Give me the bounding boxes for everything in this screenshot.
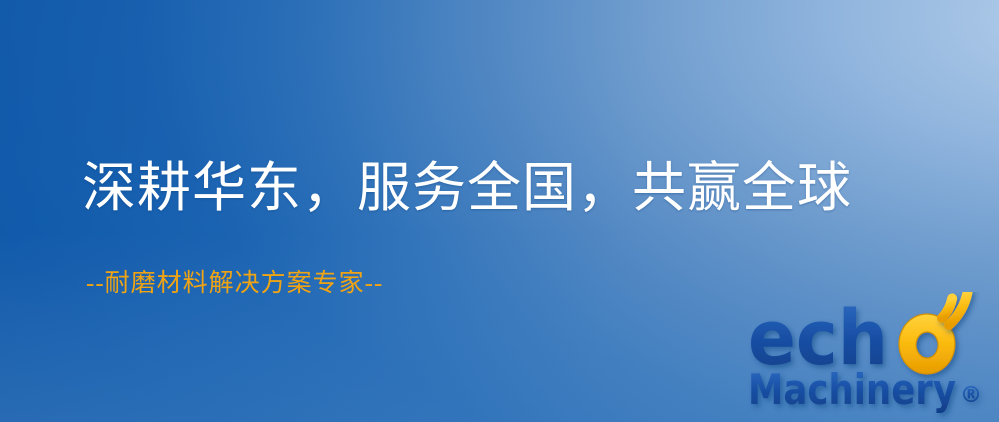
logo-echo-waves-icon <box>938 292 971 325</box>
banner-subtitle: --耐磨材料解决方案专家-- <box>86 268 383 300</box>
banner-headline: 深耕华东，服务全国，共赢全球 <box>82 155 852 221</box>
logo-tagline-text: Machinery <box>748 365 956 414</box>
promo-banner: 深耕华东，服务全国，共赢全球 --耐磨材料解决方案专家-- <box>0 0 999 422</box>
echo-machinery-logo[interactable]: ech Machinery ® <box>744 292 999 422</box>
logo-tagline: Machinery ® <box>748 365 982 414</box>
logo-registered-mark: ® <box>960 383 982 408</box>
